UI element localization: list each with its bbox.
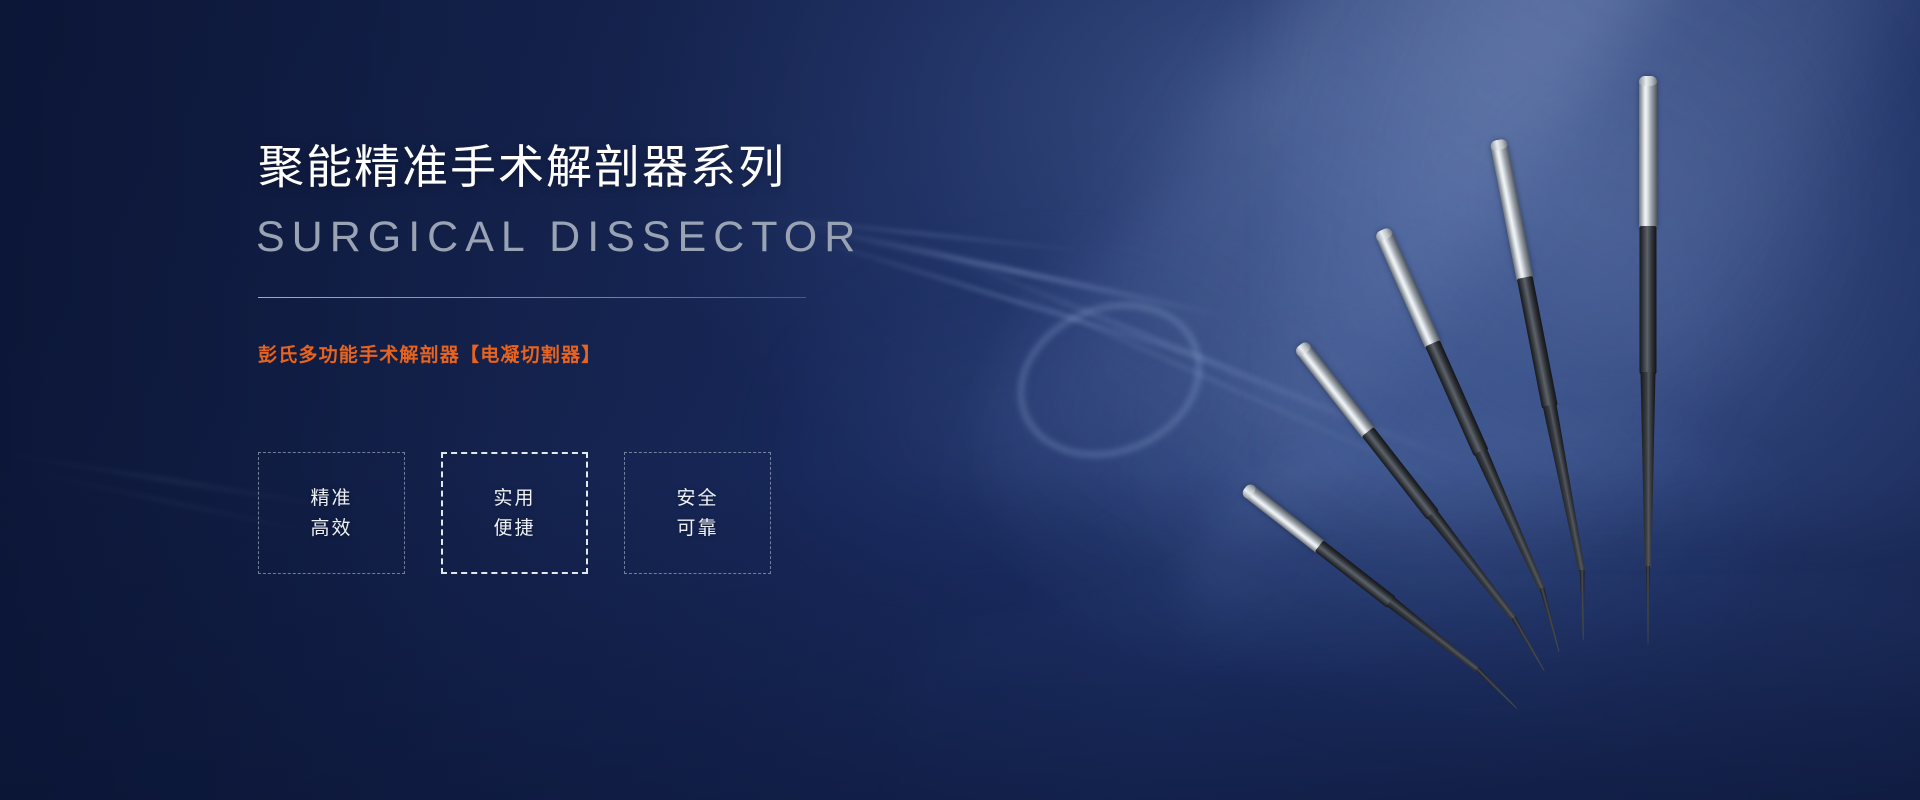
- product-name-highlight: 彭氏多功能手术解剖器【电凝切割器】: [258, 340, 601, 367]
- light-ray-secondary: [1011, 0, 1920, 800]
- product-hero-banner: 聚能精准手术解剖器系列 SURGICAL DISSECTOR 彭氏多功能手术解剖…: [0, 0, 1920, 800]
- instrument-shaft: [1315, 540, 1396, 608]
- instrument-shaft: [1640, 226, 1657, 374]
- blurred-instrument-blade-5: [925, 250, 1475, 499]
- feature-label-line2: 便捷: [493, 519, 535, 538]
- page-subtitle-english: SURGICAL DISSECTOR: [256, 214, 862, 261]
- instrument-tip: [1646, 566, 1650, 644]
- blurred-table-shape: [900, 560, 1920, 800]
- instrument-handle: [1240, 482, 1325, 553]
- corner-glow: [1280, 0, 1920, 540]
- feature-box-safety[interactable]: 安全 可靠: [624, 452, 771, 574]
- instrument-shaft: [1517, 276, 1558, 409]
- instrument-tip: [1539, 587, 1561, 652]
- instrument-tip: [1579, 570, 1585, 640]
- instrument-handle: [1490, 138, 1534, 281]
- instrument-shaft: [1362, 427, 1439, 520]
- instrument-tip: [1511, 616, 1546, 672]
- feature-label-line2: 高效: [310, 519, 352, 538]
- instrument-handle: [1374, 227, 1441, 349]
- feature-box-precision[interactable]: 精准 高效: [258, 452, 405, 574]
- instrument-shaft: [1425, 340, 1488, 456]
- page-title: 聚能精准手术解剖器系列: [258, 140, 786, 195]
- instrument-handle: [1294, 340, 1376, 438]
- instrument-taper: [1427, 510, 1520, 624]
- blurred-hand-shape-secondary: [1040, 295, 1780, 786]
- instrument-handle: [1639, 76, 1657, 228]
- feature-label-line1: 实用: [493, 489, 535, 508]
- feature-label-line2: 可靠: [676, 519, 718, 538]
- instrument-taper: [1474, 448, 1549, 593]
- feature-label-line1: 安全: [676, 489, 718, 508]
- blurred-scissor-ring: [994, 275, 1226, 485]
- hero-text-block: 聚能精准手术解剖器系列 SURGICAL DISSECTOR 彭氏多功能手术解剖…: [0, 0, 1000, 800]
- instrument-taper: [1641, 372, 1656, 568]
- title-divider: [258, 297, 806, 298]
- instrument-taper: [1386, 597, 1482, 675]
- feature-box-row: 精准 高效 实用 便捷 安全 可靠: [258, 452, 771, 574]
- blurred-hand-shape: [948, 100, 1773, 721]
- instrument-taper: [1543, 404, 1589, 574]
- feature-box-practical[interactable]: 实用 便捷: [441, 452, 588, 574]
- blurred-sleeve-shape: [1170, 393, 1810, 706]
- feature-label-line1: 精准: [310, 489, 352, 508]
- instrument-tip: [1475, 667, 1518, 710]
